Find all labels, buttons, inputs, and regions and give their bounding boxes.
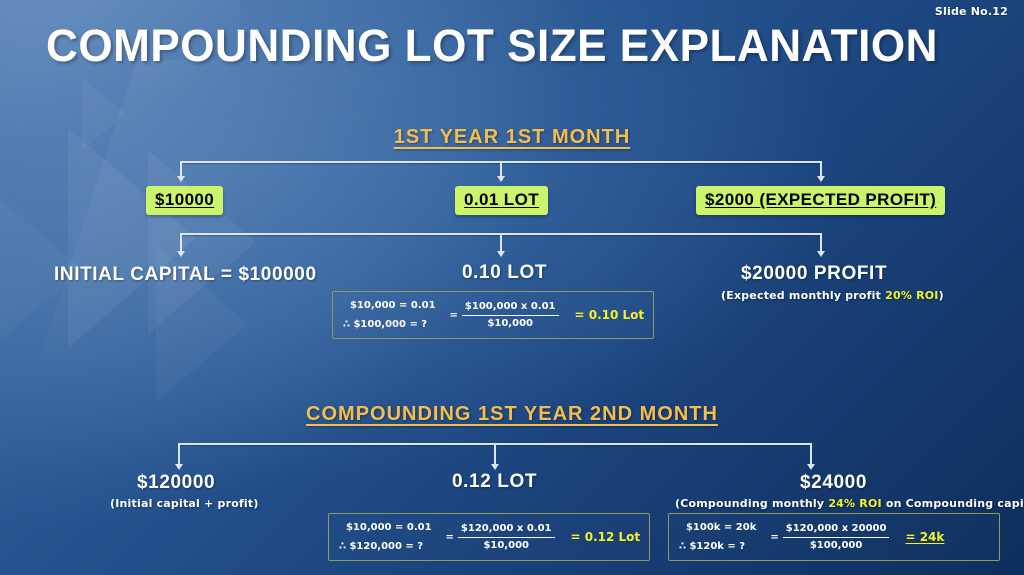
slide-canvas: Slide No.12 COMPOUNDING LOT SIZE EXPLANA… bbox=[0, 0, 1024, 575]
formula2-given-row: $10,000 = 0.01 bbox=[339, 523, 432, 533]
formula-numerator: $100,000 x 0.01 bbox=[462, 300, 559, 316]
formula-given-row: $10,000 = 0.01 bbox=[343, 301, 436, 311]
therefore-symbol-3: ∴ bbox=[679, 542, 686, 552]
section-title-second-month: COMPOUNDING 1ST YEAR 2ND MONTH bbox=[0, 403, 1024, 426]
label-compounded-capital-note: (Initial capital + profit) bbox=[110, 497, 259, 510]
formula-question: $100,000 = ? bbox=[353, 320, 427, 330]
formula-box-lot-012: $10,000 = 0.01 ∴ $120,000 = ? = $120,000… bbox=[328, 513, 650, 561]
formula2-given: $10,000 = 0.01 bbox=[346, 523, 432, 533]
formula2-numerator: $120,000 x 0.01 bbox=[458, 522, 555, 538]
note-prefix: (Expected monthly profit bbox=[721, 289, 885, 302]
formula3-equals: = bbox=[770, 532, 778, 543]
note-suffix: ) bbox=[939, 289, 944, 302]
section-title-first-month: 1ST YEAR 1ST MONTH bbox=[0, 126, 1024, 149]
label-compounded-profit-note: (Compounding monthly 24% ROI on Compound… bbox=[675, 497, 1024, 510]
green-box-capital-unit: $10000 bbox=[146, 186, 223, 215]
formula3-question-row: ∴ $120k = ? bbox=[679, 542, 756, 552]
page-title: COMPOUNDING LOT SIZE EXPLANATION bbox=[46, 20, 938, 72]
formula-denominator: $10,000 bbox=[487, 316, 533, 331]
label-lot-010: 0.10 LOT bbox=[462, 262, 547, 284]
label-initial-capital: INITIAL CAPITAL = $100000 bbox=[54, 264, 317, 286]
note2-suffix: on Compounding capital) bbox=[882, 497, 1024, 510]
therefore-symbol-2: ∴ bbox=[339, 542, 346, 552]
formula2-question: $120,000 = ? bbox=[349, 542, 423, 552]
label-compounded-profit: $24000 bbox=[800, 472, 867, 494]
formula3-question: $120k = ? bbox=[689, 542, 745, 552]
formula3-denominator: $100,000 bbox=[810, 538, 863, 553]
formula-box-lot-010: $10,000 = 0.01 ∴ $100,000 = ? = $100,000… bbox=[332, 291, 654, 339]
formula2-equals: = bbox=[446, 532, 454, 543]
slide-number: Slide No.12 bbox=[935, 5, 1008, 18]
green-box-lot-unit: 0.01 LOT bbox=[455, 186, 548, 215]
formula-equals: = bbox=[450, 310, 458, 321]
formula-box-profit-24k: $100k = 20k ∴ $120k = ? = $120,000 x 200… bbox=[668, 513, 1000, 561]
note2-prefix: (Compounding monthly bbox=[675, 497, 828, 510]
formula-question-row: ∴ $100,000 = ? bbox=[343, 320, 436, 330]
label-compounded-capital: $120000 bbox=[137, 472, 215, 494]
formula3-numerator: $120,000 x 20000 bbox=[783, 522, 890, 538]
formula-result-profit-24k: = 24k bbox=[905, 530, 944, 544]
formula2-question-row: ∴ $120,000 = ? bbox=[339, 542, 432, 552]
formula2-denominator: $10,000 bbox=[483, 538, 529, 553]
formula3-given: $100k = 20k bbox=[686, 523, 756, 533]
green-box-expected-profit-unit: $2000 (EXPECTED PROFIT) bbox=[696, 186, 945, 215]
note2-roi-highlight: 24% ROI bbox=[828, 497, 881, 510]
label-profit-20000-note: (Expected monthly profit 20% ROI) bbox=[721, 289, 944, 302]
formula-result-lot-010: = 0.10 Lot bbox=[575, 308, 645, 322]
label-lot-012: 0.12 LOT bbox=[452, 471, 537, 493]
label-profit-20000: $20000 PROFIT bbox=[741, 263, 887, 285]
formula-given: $10,000 = 0.01 bbox=[350, 301, 436, 311]
therefore-symbol: ∴ bbox=[343, 320, 350, 330]
formula-result-lot-012: = 0.12 Lot bbox=[571, 530, 641, 544]
formula3-given-row: $100k = 20k bbox=[679, 523, 756, 533]
note-roi-highlight: 20% ROI bbox=[885, 289, 938, 302]
